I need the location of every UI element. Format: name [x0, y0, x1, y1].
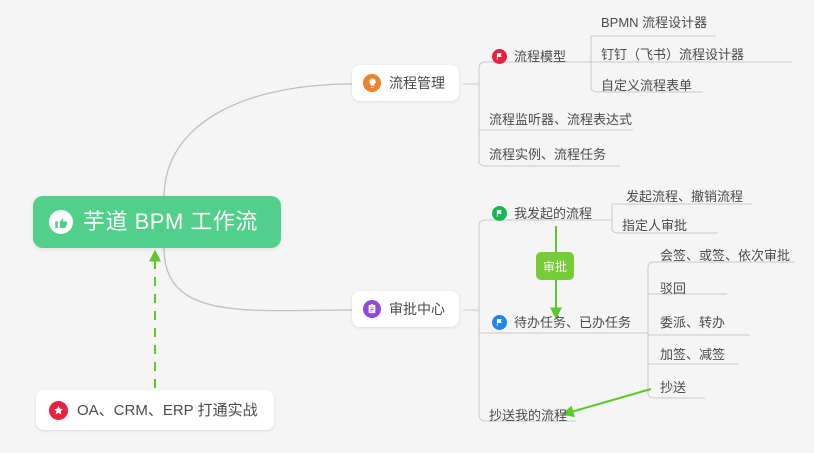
leaf-cc-to-me[interactable]: 抄送我的流程: [489, 409, 567, 422]
wire-root-to-approve-center: [164, 248, 352, 311]
leaf-assignee-approve[interactable]: 指定人审批: [622, 219, 687, 232]
integration-callout-card-label: OA、CRM、ERP 打通实战: [77, 403, 258, 418]
subnode-todo-done-tasks[interactable]: 待办任务、已办任务: [492, 315, 631, 330]
lightbulb-icon: [363, 74, 381, 92]
leaf-cc[interactable]: 抄送: [660, 381, 686, 394]
subnode-todo-done-tasks-label: 待办任务、已办任务: [514, 316, 631, 329]
leaf-start-cancel-flow[interactable]: 发起流程、撤销流程: [626, 190, 743, 203]
branch-node-approve-center-label: 审批中心: [389, 302, 445, 316]
subnode-my-started-flows-label: 我发起的流程: [514, 207, 592, 220]
branch-node-approve-center[interactable]: 审批中心: [352, 291, 459, 327]
leaf-bpmn-designer[interactable]: BPMN 流程设计器: [601, 16, 707, 29]
star-icon: [49, 401, 68, 420]
root-node-label: 芋道 BPM 工作流: [83, 211, 258, 233]
arrow-cc-to-cctome: [564, 389, 651, 414]
leaf-add-remove-sign[interactable]: 加签、减签: [660, 348, 725, 361]
branch-node-flow-management-label: 流程管理: [389, 76, 445, 90]
flag-icon: [492, 206, 507, 221]
subnode-flow-model[interactable]: 流程模型: [492, 49, 566, 64]
wire-root-to-flow-mgmt: [164, 84, 352, 198]
root-node[interactable]: 芋道 BPM 工作流: [33, 196, 281, 248]
integration-callout-card[interactable]: OA、CRM、ERP 打通实战: [36, 390, 274, 430]
mindmap-canvas: 芋道 BPM 工作流 流程管理 流程模型 BPMN 流程设计器 钉钉（飞书）流程…: [0, 0, 814, 453]
leaf-countersign[interactable]: 会签、或签、依次审批: [660, 249, 790, 262]
branch-node-flow-management[interactable]: 流程管理: [352, 65, 459, 101]
approval-annotation-badge[interactable]: 审批: [536, 252, 574, 280]
approval-annotation-badge-label: 审批: [543, 258, 567, 275]
leaf-custom-form[interactable]: 自定义流程表单: [601, 79, 692, 92]
flag-icon: [492, 49, 507, 64]
leaf-dingtalk-designer[interactable]: 钉钉（飞书）流程设计器: [601, 48, 744, 61]
leaf-instance-task[interactable]: 流程实例、流程任务: [489, 148, 606, 161]
leaf-delegate-transfer[interactable]: 委派、转办: [660, 316, 725, 329]
clipboard-icon: [363, 300, 381, 318]
subnode-flow-model-label: 流程模型: [514, 50, 566, 63]
flag-icon: [492, 315, 507, 330]
leaf-reject[interactable]: 驳回: [660, 282, 686, 295]
leaf-listener-expression[interactable]: 流程监听器、流程表达式: [489, 113, 632, 126]
subnode-my-started-flows[interactable]: 我发起的流程: [492, 206, 592, 221]
thumbs-up-icon: [49, 210, 73, 234]
